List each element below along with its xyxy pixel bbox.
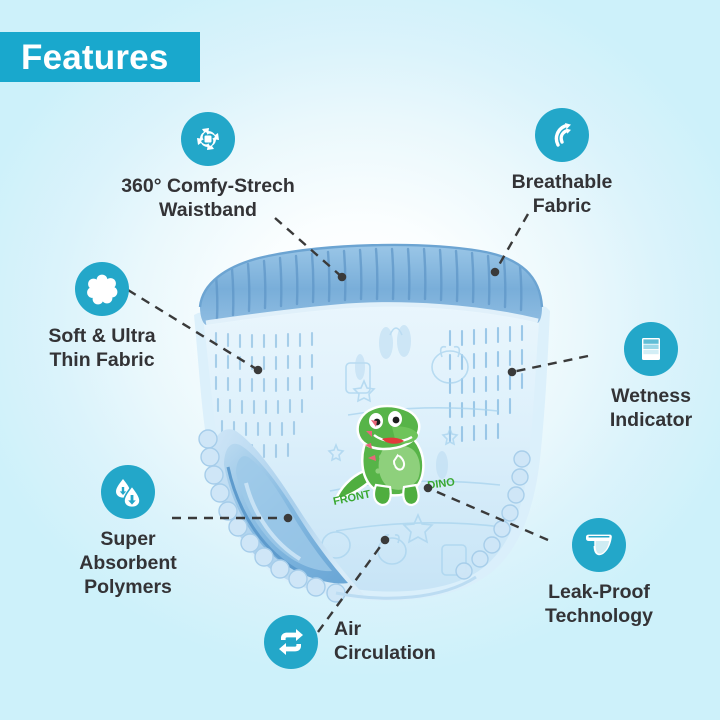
feature-waistband[interactable]: 360° Comfy-Strech Waistband	[108, 112, 308, 223]
feature-leak-proof[interactable]: Leak-Proof Technology	[524, 518, 674, 629]
product-illustration: FRONT DINO	[150, 215, 570, 615]
feature-breathable[interactable]: Breathable Fabric	[488, 108, 636, 219]
airflow-arrows-icon	[535, 108, 589, 162]
feature-wetness-indicator[interactable]: Wetness Indicator	[592, 322, 710, 433]
water-droplets-icon	[101, 465, 155, 519]
feature-label: Air Circulation	[334, 618, 436, 666]
diaper-icon	[572, 518, 626, 572]
feature-label: 360° Comfy-Strech Waistband	[121, 175, 295, 223]
feature-label: Super Absorbent Polymers	[79, 528, 177, 599]
cloud-scallop-icon	[75, 262, 129, 316]
feature-label: Leak-Proof Technology	[545, 581, 653, 629]
feature-absorbent-polymers[interactable]: Super Absorbent Polymers	[62, 465, 194, 599]
page-title: Features	[0, 40, 169, 75]
feature-label: Soft & Ultra Thin Fabric	[48, 325, 155, 373]
features-infographic: Features	[0, 0, 720, 720]
feature-label: Wetness Indicator	[610, 385, 692, 433]
feature-label: Breathable Fabric	[512, 171, 613, 219]
circulation-arrows-icon	[264, 615, 318, 669]
gradient-bars-icon	[624, 322, 678, 376]
rotate-360-icon	[181, 112, 235, 166]
feature-soft-thin[interactable]: Soft & Ultra Thin Fabric	[22, 262, 182, 373]
feature-air-circulation[interactable]: Air Circulation	[264, 615, 454, 669]
features-banner: Features	[0, 32, 200, 82]
